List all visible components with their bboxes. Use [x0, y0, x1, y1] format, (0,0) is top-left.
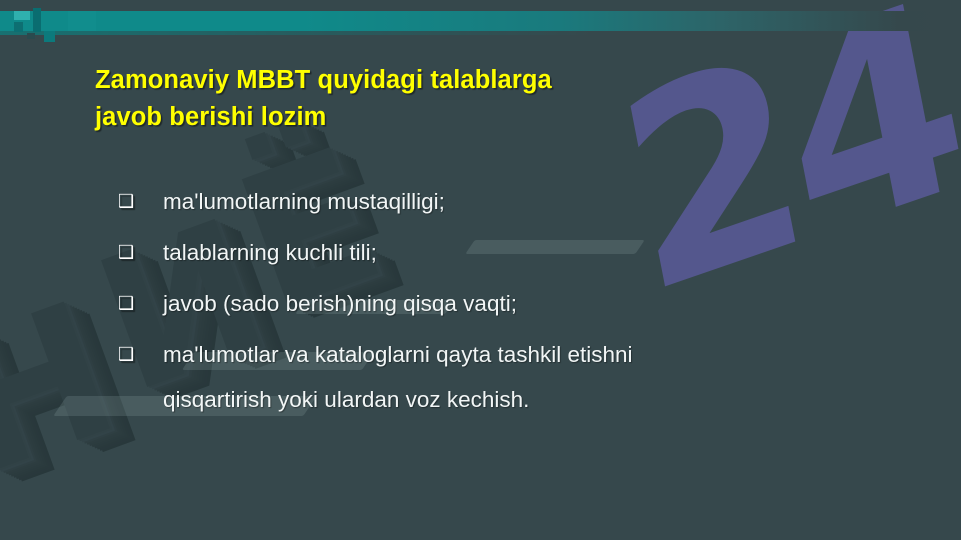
accent-block [44, 31, 55, 42]
square-bullet-icon: ❑ [118, 288, 163, 319]
list-item-label: ma'lumotlarning mustaqilligi; [163, 186, 918, 217]
top-accent-bar [0, 0, 961, 44]
list-item-label: javob (sado berish)ning qisqa vaqti; [163, 288, 918, 319]
accent-block [33, 8, 41, 32]
accent-block [44, 11, 66, 31]
accent-block [27, 33, 35, 39]
accent-block [14, 11, 30, 20]
accent-block [14, 22, 23, 32]
list-item-label: talablarning kuchli tili; [163, 237, 918, 268]
square-bullet-icon: ❑ [118, 186, 163, 217]
slide-canvas: Н И Ё 24 Zamonaviy MBBT quyidagi talabla… [0, 0, 961, 540]
accent-bar-underline [0, 31, 596, 35]
list-item: ❑ javob (sado berish)ning qisqa vaqti; [118, 288, 918, 319]
slide-title: Zamonaviy MBBT quyidagi talablarga javob… [95, 62, 785, 136]
accent-block [68, 11, 96, 31]
square-bullet-icon: ❑ [118, 237, 163, 268]
list-item-continuation: qisqartirish yoki ulardan voz kechish. [163, 384, 918, 415]
accent-bar-gradient [0, 11, 961, 31]
list-item: ❑ ma'lumotlarning mustaqilligi; [118, 186, 918, 217]
list-item: ❑ talablarning kuchli tili; [118, 237, 918, 268]
bullet-list: ❑ ma'lumotlarning mustaqilligi; ❑ talabl… [118, 186, 918, 415]
square-bullet-icon: ❑ [118, 339, 163, 370]
list-item: ❑ ma'lumotlar va kataloglarni qayta tash… [118, 339, 918, 370]
list-item-label: ma'lumotlar va kataloglarni qayta tashki… [163, 339, 918, 370]
